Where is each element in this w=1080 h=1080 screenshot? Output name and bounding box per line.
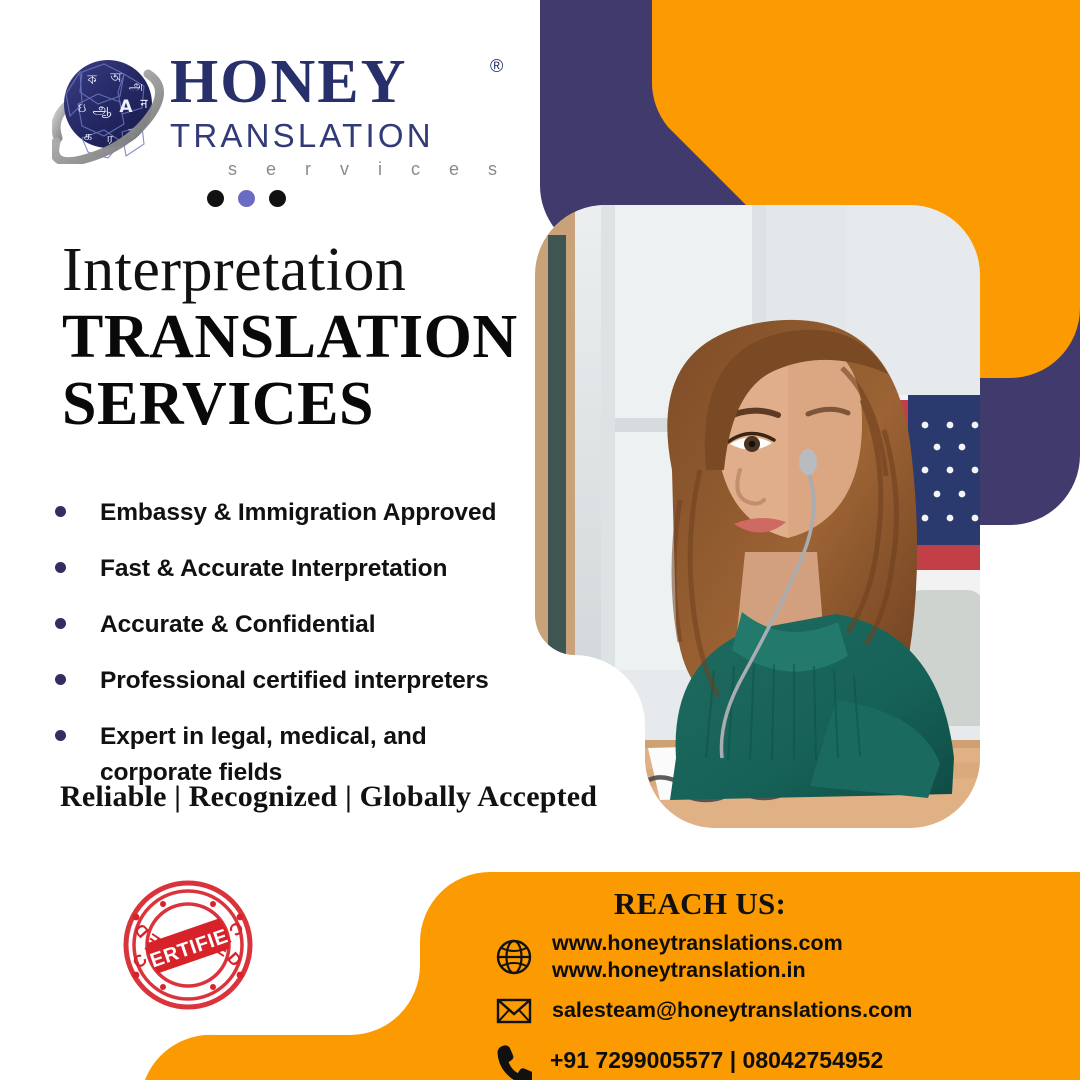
bullet-dot-icon — [55, 674, 66, 685]
tagline: Reliable | Recognized | Globally Accepte… — [60, 780, 597, 814]
list-item: Embassy & Immigration Approved — [55, 495, 525, 531]
contact-panel: REACH US: www.honeytranslations.com www.… — [420, 872, 1080, 1080]
list-item-label: Professional certified interpreters — [100, 663, 489, 699]
poster-canvas: ক অ அ ઇ ஆ A க ர র न HONEY ® TRANSLATION … — [0, 0, 1080, 1080]
svg-text:க: க — [84, 129, 92, 144]
contact-heading: REACH US: — [420, 886, 980, 922]
list-item-label: Accurate & Confidential — [100, 607, 375, 643]
website-primary[interactable]: www.honeytranslations.com — [552, 930, 843, 957]
phone-icon — [492, 1040, 532, 1080]
headline-main-line-2: SERVICES — [62, 371, 532, 438]
list-item-label: Embassy & Immigration Approved — [100, 495, 496, 531]
svg-text:न: न — [140, 97, 148, 112]
brand-logo[interactable]: ক অ அ ઇ ஆ A க ர র न HONEY ® TRANSLATION … — [52, 48, 472, 168]
logo-brand-primary: HONEY — [170, 48, 470, 116]
dot-3 — [269, 190, 286, 207]
headline-script-line: Interpretation — [62, 236, 532, 304]
contact-phone-row[interactable]: +91 7299005577 | 08042754952 — [492, 1040, 883, 1080]
svg-text:ઇ: ઇ — [78, 101, 86, 116]
logo-brand-tertiary: s e r v i c e s — [228, 156, 470, 182]
bullet-dot-icon — [55, 618, 66, 629]
headline-main-line-1: TRANSLATION — [62, 304, 532, 371]
registered-trademark-icon: ® — [490, 56, 503, 77]
dot-2 — [238, 190, 255, 207]
logo-brand-secondary: TRANSLATION — [170, 116, 470, 156]
svg-text:ক: ক — [86, 73, 97, 88]
email-address[interactable]: salesteam@honeytranslations.com — [552, 997, 912, 1024]
feature-list: Embassy & Immigration Approved Fast & Ac… — [55, 495, 525, 811]
list-item: Accurate & Confidential — [55, 607, 525, 643]
envelope-icon — [494, 990, 534, 1030]
list-item-label: Fast & Accurate Interpretation — [100, 551, 447, 587]
globe-languages-icon: ক অ அ ઇ ஆ A க ர র न — [52, 52, 170, 164]
list-item: Professional certified interpreters — [55, 663, 525, 699]
svg-text:அ: அ — [129, 79, 143, 94]
bullet-dot-icon — [55, 506, 66, 517]
page-title: Interpretation TRANSLATION SERVICES — [62, 236, 532, 438]
bullet-dot-icon — [55, 730, 66, 741]
website-secondary[interactable]: www.honeytranslation.in — [552, 957, 843, 984]
hero-photo — [535, 200, 986, 850]
certified-stamp: CERTIFIED CERTIFIED CERTIFIED — [105, 875, 271, 1015]
bullet-dot-icon — [55, 562, 66, 573]
svg-text:অ: অ — [109, 71, 122, 86]
decorative-dots — [207, 190, 286, 207]
svg-text:ஆ: ஆ — [93, 100, 112, 118]
contact-website-row[interactable]: www.honeytranslations.com www.honeytrans… — [494, 930, 843, 984]
svg-text:A: A — [119, 97, 133, 117]
dot-1 — [207, 190, 224, 207]
globe-icon — [494, 937, 534, 977]
phone-numbers[interactable]: +91 7299005577 | 08042754952 — [550, 1047, 883, 1074]
list-item: Fast & Accurate Interpretation — [55, 551, 525, 587]
contact-email-row[interactable]: salesteam@honeytranslations.com — [494, 990, 912, 1030]
